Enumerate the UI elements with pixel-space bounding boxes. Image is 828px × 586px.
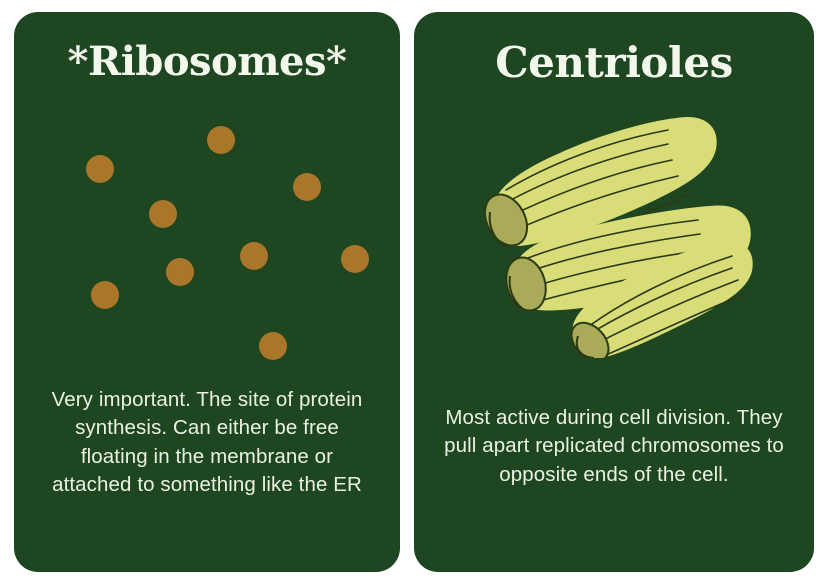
ribosome-dot [91, 281, 119, 309]
flashcard-pair: *Ribosomes* Very important. The site of … [0, 0, 828, 586]
ribosome-dot [293, 173, 321, 201]
centriole-illustration [454, 108, 774, 358]
card-body-centrioles: Most active during cell division. They p… [440, 404, 788, 489]
ribosome-illustration [14, 12, 400, 382]
ribosome-dot [341, 245, 369, 273]
ribosome-dot [166, 258, 194, 286]
ribosome-dot [86, 155, 114, 183]
card-ribosomes[interactable]: *Ribosomes* Very important. The site of … [14, 12, 400, 572]
card-body-ribosomes: Very important. The site of protein synt… [40, 386, 374, 499]
ribosome-dot [240, 242, 268, 270]
ribosome-dot [207, 126, 235, 154]
ribosome-dot [149, 200, 177, 228]
card-title-centrioles: Centrioles [414, 38, 814, 87]
card-centrioles[interactable]: Centrioles [414, 12, 814, 572]
ribosome-dot [259, 332, 287, 360]
